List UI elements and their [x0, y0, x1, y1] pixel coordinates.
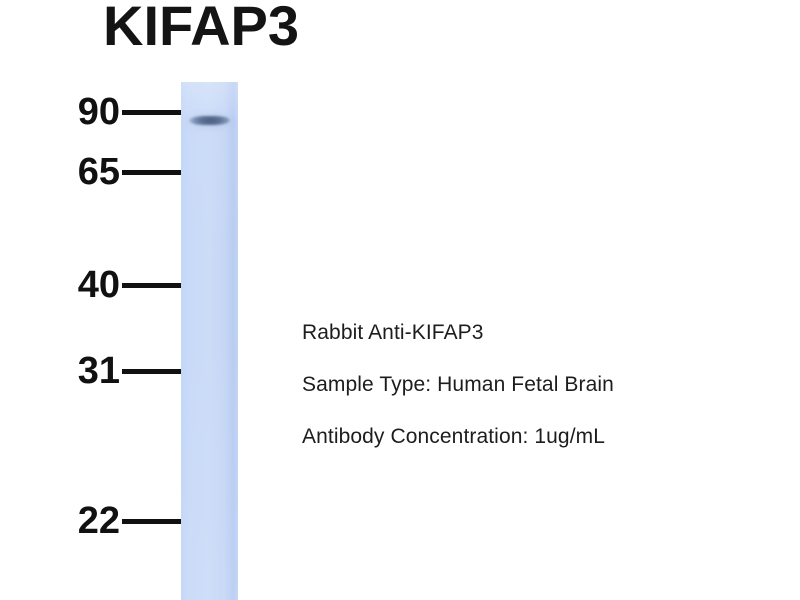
annotation-sample-type: Sample Type: Human Fetal Brain [302, 359, 772, 411]
mw-marker-tick-icon [122, 110, 184, 115]
mw-marker-tick-icon [122, 283, 184, 288]
mw-marker-90: 90 [58, 90, 184, 134]
annotation-concentration: Antibody Concentration: 1ug/mL [302, 411, 772, 463]
mw-marker-40: 40 [58, 263, 184, 307]
gel-lane-sheen [181, 82, 238, 600]
gel-lane [181, 82, 238, 600]
mw-marker-label: 31 [58, 352, 120, 390]
mw-marker-label: 22 [58, 502, 120, 540]
annotation-block: Rabbit Anti-KIFAP3 Sample Type: Human Fe… [302, 307, 772, 463]
protein-band-kifap3 [189, 116, 230, 125]
mw-marker-22: 22 [58, 499, 184, 543]
mw-marker-31: 31 [58, 349, 184, 393]
mw-marker-tick-icon [122, 170, 184, 175]
mw-marker-tick-icon [122, 369, 184, 374]
mw-marker-tick-icon [122, 519, 184, 524]
mw-marker-label: 90 [58, 93, 120, 131]
mw-marker-65: 65 [58, 150, 184, 194]
mw-marker-label: 65 [58, 153, 120, 191]
mw-marker-label: 40 [58, 266, 120, 304]
western-blot-figure: KIFAP3 90 65 40 31 22 Rabbit Anti-KIFAP3 [0, 0, 800, 600]
annotation-antibody: Rabbit Anti-KIFAP3 [302, 307, 772, 359]
